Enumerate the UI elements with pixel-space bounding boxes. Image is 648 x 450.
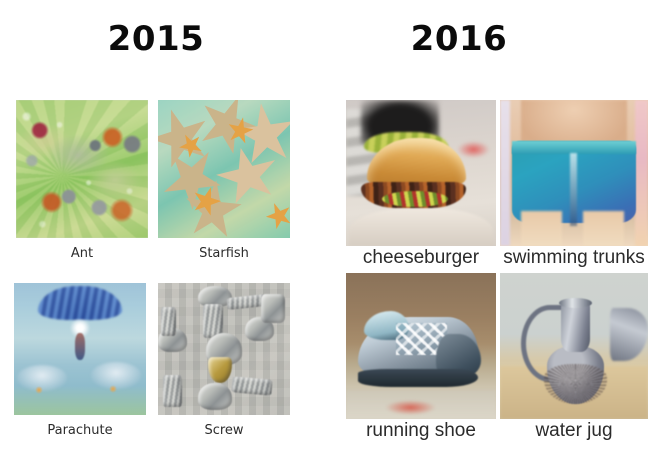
star-shape <box>262 198 290 233</box>
sample-ant: Ant <box>16 100 148 261</box>
sample-caption-water-jug: water jug <box>500 420 648 442</box>
leg-shape <box>521 211 562 246</box>
sample-image-parachute <box>14 283 146 415</box>
sample-caption-screw: Screw <box>158 424 290 438</box>
parachute-canopy <box>38 286 122 320</box>
sample-caption-parachute: Parachute <box>14 424 146 438</box>
plate-shape <box>349 208 493 246</box>
small-canopy-dot <box>109 385 117 393</box>
sample-caption-cheeseburger: cheeseburger <box>346 247 496 269</box>
secondary-spout <box>610 308 648 361</box>
screw-shaft <box>231 376 272 395</box>
sample-parachute: Parachute <box>14 283 146 438</box>
sample-cheeseburger: cheeseburger <box>346 100 496 269</box>
screw-head-gold <box>208 357 232 383</box>
jumper-figure <box>75 333 86 359</box>
edge-right-wash <box>635 100 648 246</box>
small-canopy-dot <box>35 386 43 394</box>
sample-screw: Screw <box>158 283 290 438</box>
generated-texture-starfish <box>158 100 290 238</box>
generated-texture-running-shoe <box>346 273 496 419</box>
screw-shaft <box>161 307 177 336</box>
edge-left-wash <box>500 100 510 246</box>
image-grid-2016: cheeseburger <box>346 100 648 443</box>
starfish-shapes <box>158 100 290 238</box>
panel-2015: 2015 Ant <box>0 0 324 450</box>
screw-head <box>198 383 232 409</box>
jug-rim <box>559 298 592 308</box>
sample-image-cheeseburger <box>346 100 496 246</box>
sample-water-jug: water jug <box>500 273 648 442</box>
sample-image-swimming-trunks <box>500 100 648 246</box>
sample-caption-starfish: Starfish <box>158 247 290 261</box>
sample-caption-running-shoe: running shoe <box>346 420 496 442</box>
sample-caption-swimming-trunks: swimming trunks <box>500 247 648 269</box>
cloud-puff <box>91 362 141 388</box>
sample-image-starfish <box>158 100 290 238</box>
sample-image-ant <box>16 100 148 238</box>
sample-image-screw <box>158 283 290 415</box>
sample-image-running-shoe <box>346 273 496 419</box>
generated-texture-water-jug <box>500 273 648 419</box>
shoe-sole <box>358 369 478 387</box>
generated-texture-cheeseburger <box>346 100 496 246</box>
generated-texture-parachute <box>14 283 146 415</box>
panel-2015-title: 2015 <box>0 22 318 56</box>
center-seam <box>570 153 577 226</box>
sample-running-shoe: running shoe <box>346 273 496 442</box>
image-grid-2016-row-2: running shoe <box>346 273 648 443</box>
generated-texture-ant <box>16 100 148 238</box>
comparison-figure: 2015 Ant <box>0 0 648 450</box>
jug-neck <box>561 302 591 352</box>
red-scuff-mark <box>385 400 436 415</box>
screw-shaft <box>261 294 285 323</box>
screw-shaft <box>163 375 181 407</box>
sample-image-water-jug <box>500 273 648 419</box>
generated-texture-screw <box>158 283 290 415</box>
highlight-specks <box>16 100 148 238</box>
sample-swimming-trunks: swimming trunks <box>500 100 648 269</box>
background-pink-blob <box>457 141 490 159</box>
sample-caption-ant: Ant <box>16 247 148 261</box>
panel-2016: 2016 <box>324 0 648 450</box>
leg-shape <box>583 211 624 246</box>
generated-texture-swimming-trunks <box>500 100 648 246</box>
sample-starfish: Starfish <box>158 100 290 261</box>
toppings-layer <box>382 191 448 207</box>
panel-2016-title: 2016 <box>297 22 621 56</box>
image-grid-2016-row-1: cheeseburger <box>346 100 648 270</box>
